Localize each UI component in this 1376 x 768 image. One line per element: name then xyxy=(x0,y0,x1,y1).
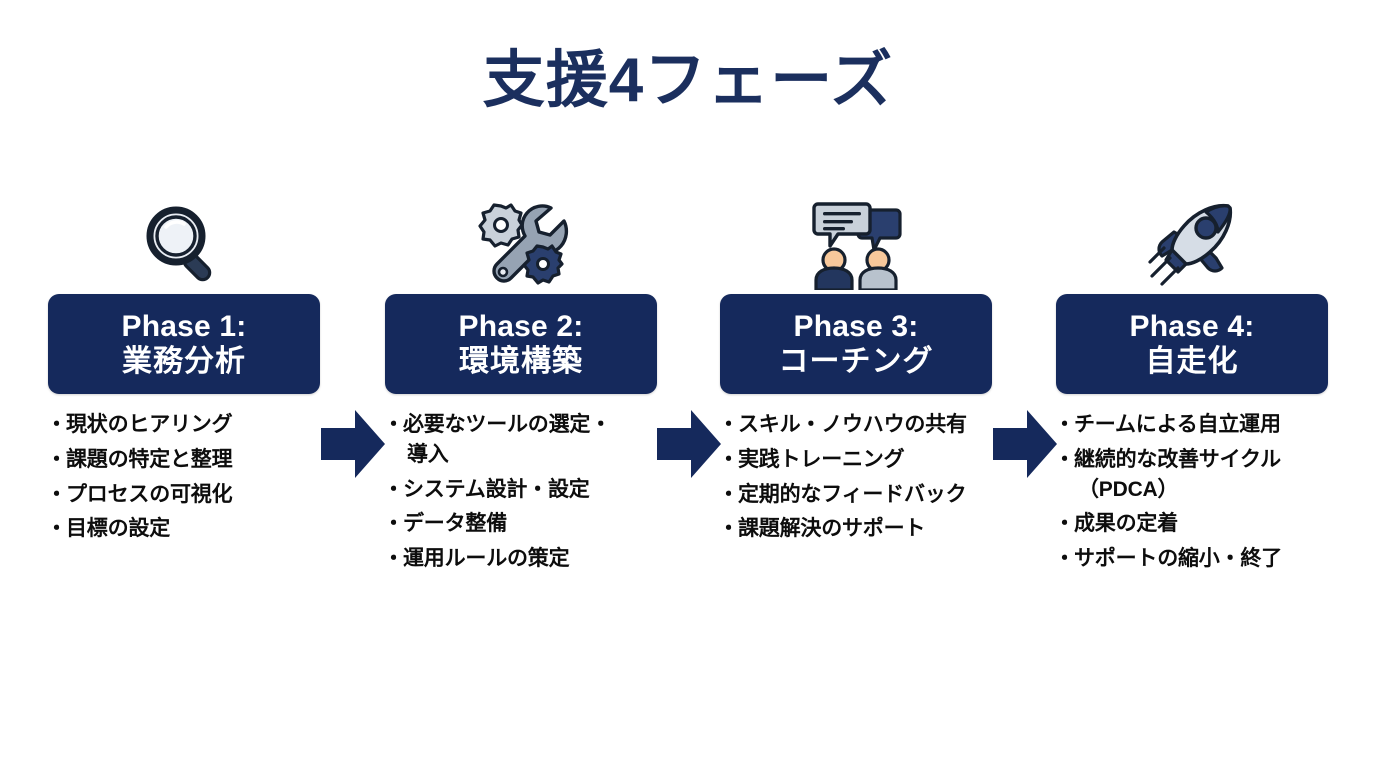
bullet-text-continued: 導入 xyxy=(403,440,657,470)
list-item: 課題の特定と整理 xyxy=(48,445,320,475)
bullet-text: 必要なツールの選定・ xyxy=(403,413,611,436)
bullet-text: システム設計・設定 xyxy=(403,478,590,501)
slide-canvas: 支援4フェーズ Phase 1: 業務分析 現 xyxy=(0,0,1376,768)
list-item: サポートの縮小・終了 xyxy=(1056,544,1328,574)
bullet-text: 継続的な改善サイクル xyxy=(1074,448,1281,471)
phase-bullet-list-3: スキル・ノウハウの共有 実践トレーニング 定期的なフィードバック 課題解決のサポ… xyxy=(720,394,992,544)
bullet-text: データ整備 xyxy=(403,512,507,535)
bullet-text: プロセスの可視化 xyxy=(66,483,232,506)
list-item: スキル・ノウハウの共有 xyxy=(720,410,992,440)
wrench-gears-icon xyxy=(385,190,657,290)
magnifying-glass-icon xyxy=(48,190,320,290)
list-item: 運用ルールの策定 xyxy=(385,544,657,574)
phase-label-ja: 環境構築 xyxy=(459,344,583,379)
list-item: 継続的な改善サイクル （PDCA） xyxy=(1056,445,1328,505)
phase-label-ja: 業務分析 xyxy=(122,344,246,379)
bullet-text: 運用ルールの策定 xyxy=(403,547,569,570)
list-item: 実践トレーニング xyxy=(720,445,992,475)
phase-label-en: Phase 3: xyxy=(794,309,919,344)
arrow-phase1-to-phase2 xyxy=(321,410,385,478)
list-item: 目標の設定 xyxy=(48,514,320,544)
phase-column-4: Phase 4: 自走化 チームによる自立運用 継続的な改善サイクル （PDCA… xyxy=(1056,190,1328,579)
bullet-text: 目標の設定 xyxy=(66,517,170,540)
list-item: システム設計・設定 xyxy=(385,475,657,505)
phase-bullet-list-4: チームによる自立運用 継続的な改善サイクル （PDCA） 成果の定着 サポートの… xyxy=(1056,394,1328,574)
list-item: 定期的なフィードバック xyxy=(720,480,992,510)
list-item: 成果の定着 xyxy=(1056,509,1328,539)
bullet-text: スキル・ノウハウの共有 xyxy=(738,413,967,436)
bullet-text: チームによる自立運用 xyxy=(1074,413,1281,436)
arrow-phase3-to-phase4 xyxy=(993,410,1057,478)
phase-label-ja: コーチング xyxy=(779,344,934,379)
people-chat-icon xyxy=(720,190,992,290)
bullet-text: 成果の定着 xyxy=(1074,512,1178,535)
bullet-text: 課題解決のサポート xyxy=(738,517,925,540)
list-item: 課題解決のサポート xyxy=(720,514,992,544)
bullet-text: 現状のヒアリング xyxy=(66,413,232,436)
phase-box-4[interactable]: Phase 4: 自走化 xyxy=(1056,294,1328,394)
bullet-text: サポートの縮小・終了 xyxy=(1074,547,1282,570)
list-item: チームによる自立運用 xyxy=(1056,410,1328,440)
phase-label-ja: 自走化 xyxy=(1146,344,1239,379)
list-item: プロセスの可視化 xyxy=(48,480,320,510)
phase-bullet-list-2: 必要なツールの選定・ 導入 システム設計・設定 データ整備 運用ルールの策定 xyxy=(385,394,657,574)
phase-column-1: Phase 1: 業務分析 現状のヒアリング 課題の特定と整理 プロセスの可視化… xyxy=(48,190,320,549)
phase-column-2: Phase 2: 環境構築 必要なツールの選定・ 導入 システム設計・設定 デー… xyxy=(385,190,657,579)
phase-box-3[interactable]: Phase 3: コーチング xyxy=(720,294,992,394)
list-item: 現状のヒアリング xyxy=(48,410,320,440)
bullet-text: 定期的なフィードバック xyxy=(738,483,966,506)
phase-column-3: Phase 3: コーチング スキル・ノウハウの共有 実践トレーニング 定期的な… xyxy=(720,190,992,549)
phase-bullet-list-1: 現状のヒアリング 課題の特定と整理 プロセスの可視化 目標の設定 xyxy=(48,394,320,544)
phase-label-en: Phase 2: xyxy=(459,309,584,344)
phase-label-en: Phase 4: xyxy=(1130,309,1255,344)
page-title: 支援4フェーズ xyxy=(0,48,1376,113)
bullet-text-continued: （PDCA） xyxy=(1074,475,1328,505)
bullet-text: 課題の特定と整理 xyxy=(66,448,232,471)
rocket-icon xyxy=(1056,190,1328,290)
phase-box-1[interactable]: Phase 1: 業務分析 xyxy=(48,294,320,394)
list-item: データ整備 xyxy=(385,509,657,539)
bullet-text: 実践トレーニング xyxy=(738,448,904,471)
arrow-phase2-to-phase3 xyxy=(657,410,721,478)
list-item: 必要なツールの選定・ 導入 xyxy=(385,410,657,470)
phase-label-en: Phase 1: xyxy=(122,309,247,344)
phase-box-2[interactable]: Phase 2: 環境構築 xyxy=(385,294,657,394)
